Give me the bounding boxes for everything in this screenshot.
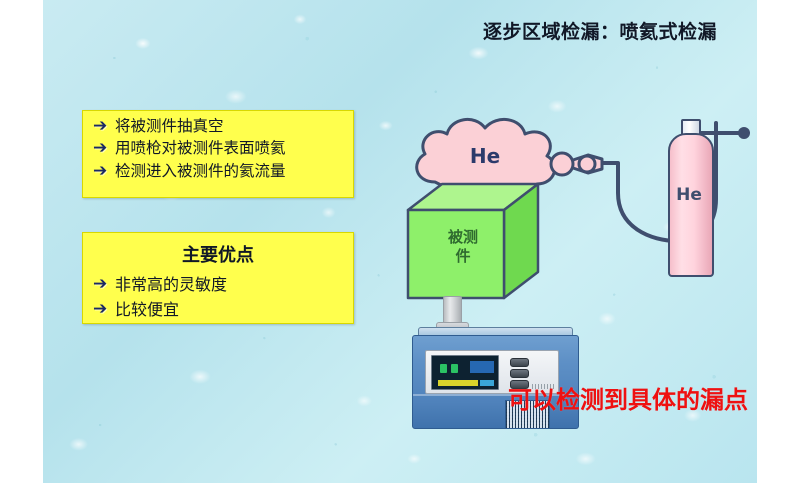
screen-indicator-icon	[451, 364, 458, 373]
merits-callout-box: 主要优点 ➔ 非常高的灵敏度 ➔ 比较便宜	[82, 232, 354, 324]
step-text-2: 用喷枪对被测件表面喷氦	[115, 137, 286, 159]
list-item: ➔ 检测进入被测件的氦流量	[83, 160, 353, 182]
step-text-3: 检测进入被测件的氦流量	[115, 160, 286, 182]
steps-callout-box: ➔ 将被测件抽真空 ➔ 用喷枪对被测件表面喷氦 ➔ 检测进入被测件的氦流量	[82, 110, 354, 198]
red-annotation-text: 可以检测到具体的漏点	[508, 380, 748, 415]
arrow-right-icon: ➔	[93, 163, 115, 180]
list-item: ➔ 将被测件抽真空	[83, 115, 353, 137]
list-item: ➔ 用喷枪对被测件表面喷氦	[83, 137, 353, 159]
merit-text-1: 非常高的灵敏度	[115, 273, 227, 296]
arrow-right-icon: ➔	[93, 118, 115, 135]
page-title: 逐步区域检漏：喷氦式检漏	[440, 17, 760, 44]
helium-cylinder	[668, 133, 714, 277]
merit-text-2: 比较便宜	[115, 298, 179, 321]
screen-blue-panel	[470, 361, 494, 373]
screen-yellow-bar	[438, 380, 478, 386]
step-text-1: 将被测件抽真空	[115, 115, 224, 137]
screen-indicator-icon	[440, 364, 447, 373]
merits-heading: 主要优点	[83, 241, 353, 267]
detector-display-screen	[431, 355, 499, 390]
list-item: ➔ 非常高的灵敏度	[83, 273, 353, 296]
arrow-right-icon: ➔	[93, 301, 115, 318]
detector-button-2[interactable]	[510, 369, 529, 378]
slide-canvas: 逐步区域检漏：喷氦式检漏 ➔ 将被测件抽真空 ➔ 用喷枪对被测件表面喷氦 ➔ 检…	[0, 0, 800, 500]
screen-cyan-bar	[480, 380, 494, 386]
arrow-right-icon: ➔	[93, 140, 115, 157]
hose-and-sprayer-icon	[540, 95, 760, 295]
device-under-test-cube: 被测 件	[398, 180, 550, 310]
helium-supply-plumbing	[540, 95, 760, 295]
arrow-right-icon: ➔	[93, 276, 115, 293]
cube-shape-icon	[398, 180, 550, 310]
detector-button-1[interactable]	[510, 358, 529, 367]
list-item: ➔ 比较便宜	[83, 298, 353, 321]
